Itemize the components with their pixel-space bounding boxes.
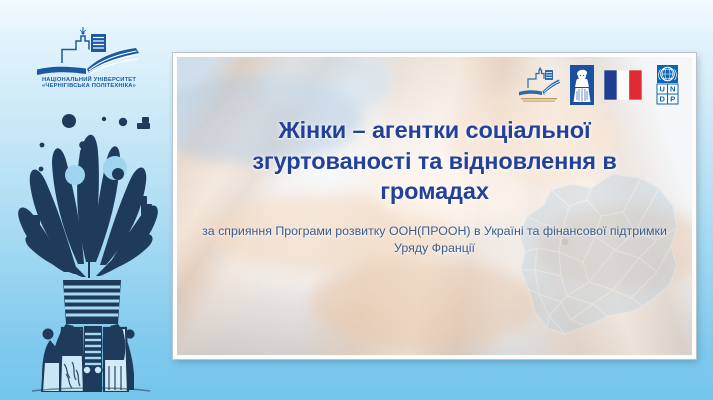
university-logo: НАЦІОНАЛЬНИЙ УНІВЕРСИТЕТ «ЧЕРНІГІВСЬКА П… — [33, 26, 145, 88]
university-logo-small — [517, 66, 561, 104]
slide-panel: U N D P Жінки – агентки соціальної згурт… — [173, 53, 696, 359]
undp-letter-p: P — [670, 95, 675, 104]
women-basket-plants-illustration — [8, 112, 176, 392]
slide-canvas: НАЦІОНАЛЬНИЙ УНІВЕРСИТЕТ «ЧЕРНІГІВСЬКА П… — [0, 0, 713, 400]
undp-logo: U N D P — [652, 64, 683, 105]
marianne-emblem — [570, 65, 594, 105]
undp-letter-u: U — [660, 85, 665, 94]
slide-subtitle: за сприяння Програми розвитку ООН(ПРООН)… — [199, 223, 670, 258]
partner-logo-strip: U N D P — [517, 64, 683, 105]
slide-headline: Жінки – агентки соціальної згуртованості… — [199, 115, 670, 207]
undp-letter-n: N — [670, 85, 675, 94]
undp-letter-d: D — [660, 95, 666, 104]
slide-text-block: Жінки – агентки соціальної згуртованості… — [177, 115, 692, 258]
french-flag-icon — [603, 65, 643, 105]
university-logo-line1: НАЦІОНАЛЬНИЙ УНІВЕРСИТЕТ — [42, 75, 136, 83]
university-logo-line2: «ЧЕРНІГІВСЬКА ПОЛІТЕХНІКА» — [42, 83, 136, 88]
